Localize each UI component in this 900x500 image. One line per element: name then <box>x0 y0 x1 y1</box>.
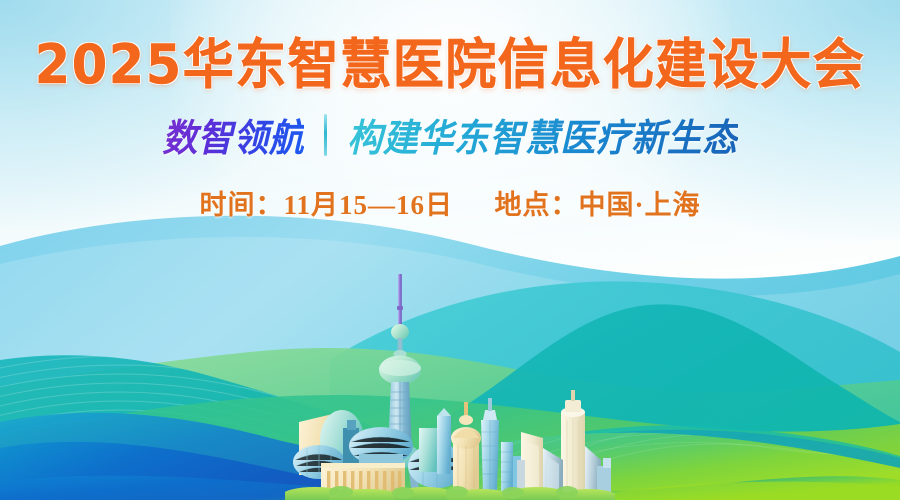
poster-text-block: 2025华东智慧医院信息化建设大会 数智领航 构建华东智慧医疗新生态 时间：11… <box>0 0 900 260</box>
event-time: 时间：11月15—16日 <box>199 190 453 220</box>
subtitle-left: 数智领航 <box>162 108 304 163</box>
shanghai-skyline <box>285 270 615 500</box>
cylinder-tower <box>561 390 585 492</box>
event-info-line: 时间：11月15—16日 地点：中国·上海 <box>0 183 900 222</box>
conference-poster: 2025华东智慧医院信息化建设大会 数智领航 构建华东智慧医疗新生态 时间：11… <box>0 0 900 500</box>
jin-mao-tower <box>481 398 499 492</box>
subtitle-right: 构建华东智慧医疗新生态 <box>347 108 738 163</box>
event-place: 地点：中国·上海 <box>495 190 701 220</box>
subtitle-row: 数智领航 构建华东智慧医疗新生态 <box>0 110 900 161</box>
greenery-base <box>285 486 615 500</box>
page-title: 2025华东智慧医院信息化建设大会 <box>0 0 900 94</box>
domed-landmark <box>451 402 481 490</box>
subtitle-divider <box>324 114 327 156</box>
